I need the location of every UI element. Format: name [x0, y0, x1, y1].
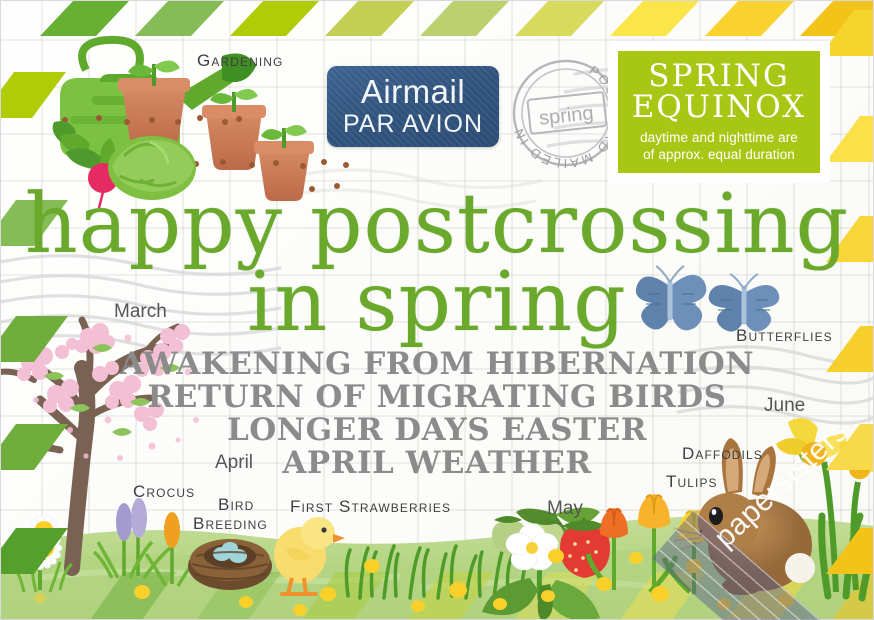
label-tulips: Tulips [666, 472, 718, 492]
label-breeding: Breeding [193, 514, 268, 534]
keyword-line-3: LONGER DAYS EASTER [0, 415, 874, 446]
postcard: happy postcrossing in spring AWAKENING F… [0, 0, 874, 620]
flowerpot-seedling-2 [202, 89, 266, 170]
label-bird: Bird [218, 495, 254, 515]
label-butterflies: Butterflies [736, 326, 833, 346]
keyword-line-2: RETURN OF MIGRATING BIRDS [0, 382, 874, 413]
stamp-description-line-2: of approx. equal duration [640, 147, 798, 164]
airmail-subtitle: PAR AVION [343, 110, 483, 139]
airmail-title: Airmail [361, 75, 465, 108]
airmail-sticker: Airmail PAR AVION [327, 66, 499, 147]
stamp-description: daytime and nighttime are of approx. equ… [640, 130, 798, 164]
keyword-line-1: AWAKENING FROM HIBERNATION [0, 349, 874, 380]
stamp-content: SPRING EQUINOX daytime and nighttime are… [618, 51, 820, 173]
month-may: May [547, 498, 583, 520]
stamp-description-line-1: daytime and nighttime are [640, 130, 798, 147]
month-april: April [215, 452, 253, 474]
spring-equinox-stamp: SPRING EQUINOX daytime and nighttime are… [608, 41, 830, 183]
label-first-strawberries: First Strawberries [290, 497, 451, 517]
month-march: March [114, 301, 167, 323]
headline-line-1: happy postcrossing [0, 186, 874, 265]
label-crocus: Crocus [133, 482, 195, 502]
stamp-title-line-2: EQUINOX [632, 92, 806, 123]
stamp-title-line-1: SPRING [648, 61, 790, 92]
postmark-center-text: spring [538, 102, 594, 130]
birds-nest [188, 539, 272, 590]
month-june: June [764, 395, 805, 417]
label-gardening: Gardening [197, 51, 283, 71]
label-daffodils: Daffodils [682, 444, 763, 464]
